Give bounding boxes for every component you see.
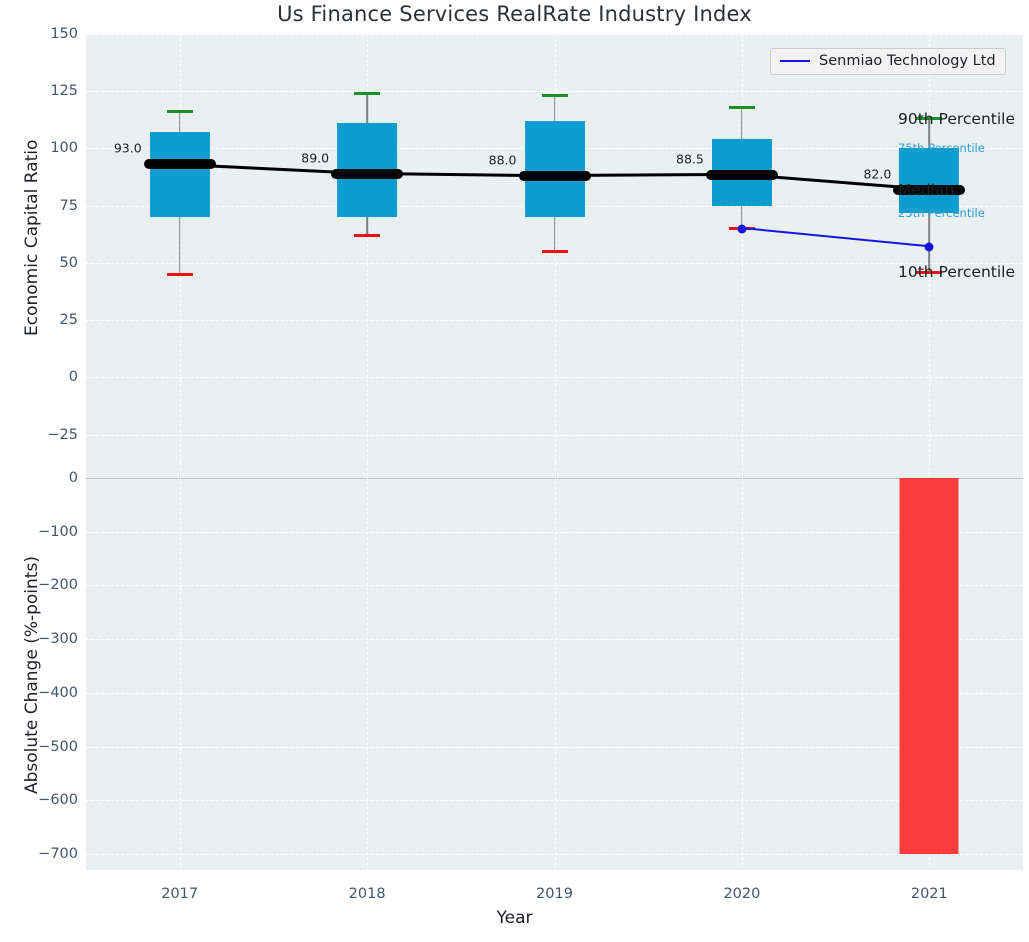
y-tick-label: 0 — [0, 470, 78, 486]
chart-title: Us Finance Services RealRate Industry In… — [0, 2, 1029, 26]
chart-figure: Us Finance Services RealRate Industry In… — [0, 0, 1029, 942]
median-marker — [144, 159, 216, 169]
annotation-75th-percentile: 75th Percentile — [898, 141, 985, 155]
company-data-point[interactable] — [925, 242, 934, 251]
x-tick-label-2018: 2018 — [327, 886, 407, 902]
median-value-label: 88.0 — [489, 152, 517, 167]
vertical-gridline — [555, 462, 556, 870]
vertical-gridline — [367, 462, 368, 870]
median-value-label: 93.0 — [114, 141, 142, 156]
annotation-10th-percentile: 10th Percentile — [898, 263, 1015, 281]
median-marker — [706, 170, 778, 180]
y-tick-label: 125 — [0, 83, 78, 99]
chart-legend[interactable]: Senmiao Technology Ltd — [770, 48, 1006, 75]
y-tick-label: 0 — [0, 369, 78, 385]
p90-cap — [729, 106, 755, 109]
y-tick-label: −100 — [0, 524, 78, 540]
annotation-90th-percentile: 90th Percentile — [898, 110, 1015, 128]
median-value-label: 88.5 — [676, 151, 704, 166]
median-marker — [519, 171, 591, 181]
p10-cap — [542, 250, 568, 253]
box-iqr — [525, 121, 585, 217]
y-tick-label: −600 — [0, 792, 78, 808]
median-value-label: 82.0 — [863, 166, 891, 181]
vertical-gridline — [180, 462, 181, 870]
vertical-gridline — [742, 34, 743, 462]
change-bar — [900, 478, 959, 854]
legend-label-senmiao: Senmiao Technology Ltd — [819, 53, 996, 69]
vertical-gridline — [742, 462, 743, 870]
y-tick-label: −700 — [0, 846, 78, 862]
median-value-label: 89.0 — [301, 150, 329, 165]
p10-cap — [167, 273, 193, 276]
x-tick-label-2021: 2021 — [889, 886, 969, 902]
y-tick-label: −25 — [0, 427, 78, 443]
box-iqr — [150, 132, 210, 217]
x-axis-label: Year — [0, 908, 1029, 928]
company-data-point[interactable] — [737, 224, 746, 233]
p10-cap — [354, 234, 380, 237]
p90-cap — [542, 94, 568, 97]
y-tick-label: 150 — [0, 26, 78, 42]
annotation-25th-percentile: 25th Percentile — [898, 206, 985, 220]
median-marker — [331, 169, 403, 179]
p90-cap — [167, 110, 193, 113]
p90-cap — [354, 92, 380, 95]
x-tick-label-2019: 2019 — [515, 886, 595, 902]
x-tick-label-2020: 2020 — [702, 886, 782, 902]
top-panel-y-axis-label: Economic Capital Ratio — [22, 140, 42, 336]
x-tick-label-2017: 2017 — [140, 886, 220, 902]
annotation-median: Median — [898, 181, 954, 199]
bottom-panel-y-axis-label: Absolute Change (%-points) — [22, 556, 42, 794]
legend-swatch-senmiao — [780, 60, 810, 62]
